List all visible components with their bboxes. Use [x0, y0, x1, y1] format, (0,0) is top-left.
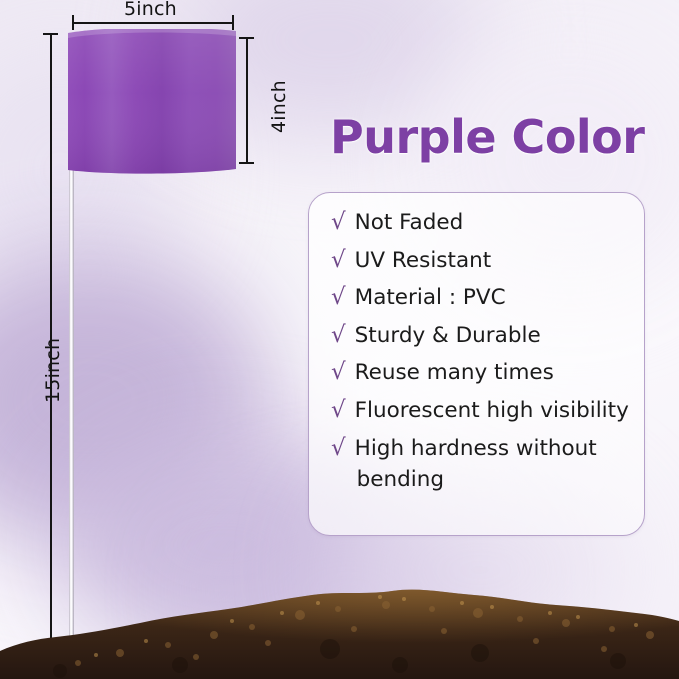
check-icon: √ [331, 399, 346, 422]
check-icon: √ [331, 437, 346, 460]
list-item: √ Material : PVC [331, 282, 634, 314]
list-item: √ Not Faded [331, 207, 634, 239]
check-icon: √ [331, 324, 346, 347]
feature-label: UV Resistant [355, 245, 492, 277]
feature-label: Reuse many times [355, 357, 554, 389]
dimension-tick-flag-top [239, 37, 254, 39]
check-icon: √ [331, 286, 346, 309]
check-icon: √ [331, 249, 346, 272]
dimension-tick-width-right [232, 15, 234, 30]
product-infographic: 5inch 4inch 15inch [0, 0, 679, 679]
dimension-tick-total-top [43, 33, 58, 35]
feature-label: High hardness without bending [355, 433, 597, 496]
dimension-tick-flag-bottom [239, 162, 254, 164]
list-item: √ High hardness without bending [331, 433, 634, 496]
feature-card: √ Not Faded √ UV Resistant √ Material : … [308, 192, 645, 536]
feature-label-line1: High hardness without [355, 436, 597, 461]
feature-list: √ Not Faded √ UV Resistant √ Material : … [331, 207, 634, 502]
page-title: Purple Color [330, 110, 644, 164]
list-item: √ UV Resistant [331, 245, 634, 277]
list-item: √ Sturdy & Durable [331, 320, 634, 352]
feature-label-line2: bending [355, 464, 597, 496]
flag-cloth [68, 29, 236, 174]
feature-label: Sturdy & Durable [355, 320, 541, 352]
dimension-tick-width-left [72, 15, 74, 30]
soil-mound [0, 569, 679, 679]
dimension-line-width [72, 22, 234, 24]
dimension-label-flag-height: 4inch [268, 80, 290, 133]
feature-label: Not Faded [355, 207, 464, 239]
dimension-line-flag-height [246, 37, 248, 164]
feature-label: Fluorescent high visibility [355, 395, 629, 427]
check-icon: √ [331, 211, 346, 234]
check-icon: √ [331, 361, 346, 384]
dimension-label-width: 5inch [124, 0, 177, 20]
list-item: √ Fluorescent high visibility [331, 395, 634, 427]
dimension-label-total-height: 15inch [42, 338, 64, 403]
feature-label: Material : PVC [355, 282, 506, 314]
list-item: √ Reuse many times [331, 357, 634, 389]
